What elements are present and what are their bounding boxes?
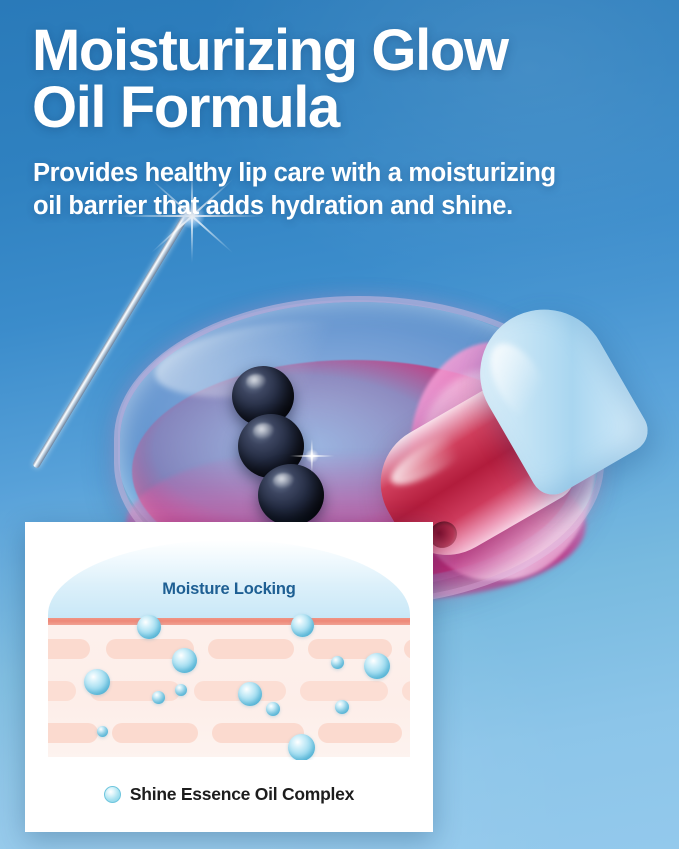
skin-cell: [300, 681, 388, 701]
oil-bubble: [331, 656, 344, 669]
oil-bubble: [137, 615, 161, 639]
legend-dot-icon: [104, 786, 121, 803]
oil-bubble: [288, 734, 315, 760]
oil-bubble: [291, 614, 314, 637]
oil-bubble: [175, 684, 187, 696]
oil-bubble: [266, 702, 280, 716]
oil-bubble: [364, 653, 390, 679]
blueberry: [258, 464, 324, 526]
oil-bubble: [335, 700, 349, 714]
skin-cell: [48, 681, 76, 701]
skin-layer-diagram: Moisture Locking: [48, 540, 410, 760]
subtitle: Provides healthy lip care with a moistur…: [33, 157, 649, 224]
oil-bubble: [238, 682, 262, 706]
moisture-locking-label: Moisture Locking: [48, 580, 410, 599]
skin-cell: [208, 639, 294, 659]
skin-cell: [404, 639, 410, 659]
info-card: Moisture Locking Shine Essence Oil Compl…: [25, 522, 433, 832]
moisture-dome: [48, 540, 410, 618]
skin-cell: [318, 723, 402, 743]
legend: Shine Essence Oil Complex: [25, 784, 433, 805]
skin-cell: [48, 723, 98, 743]
page-title: Moisturizing Glow Oil Formula: [32, 22, 649, 137]
oil-bubble: [152, 691, 165, 704]
copy-block: Moisturizing Glow Oil Formula Provides h…: [0, 0, 679, 224]
skin-cell: [112, 723, 198, 743]
oil-bubble: [172, 648, 197, 673]
legend-label: Shine Essence Oil Complex: [130, 784, 354, 805]
skin-cell: [48, 639, 90, 659]
product-banner: Moisturizing Glow Oil Formula Provides h…: [0, 0, 679, 849]
skin-cell: [402, 681, 410, 701]
oil-bubble: [97, 726, 108, 737]
oil-bubble: [84, 669, 110, 695]
